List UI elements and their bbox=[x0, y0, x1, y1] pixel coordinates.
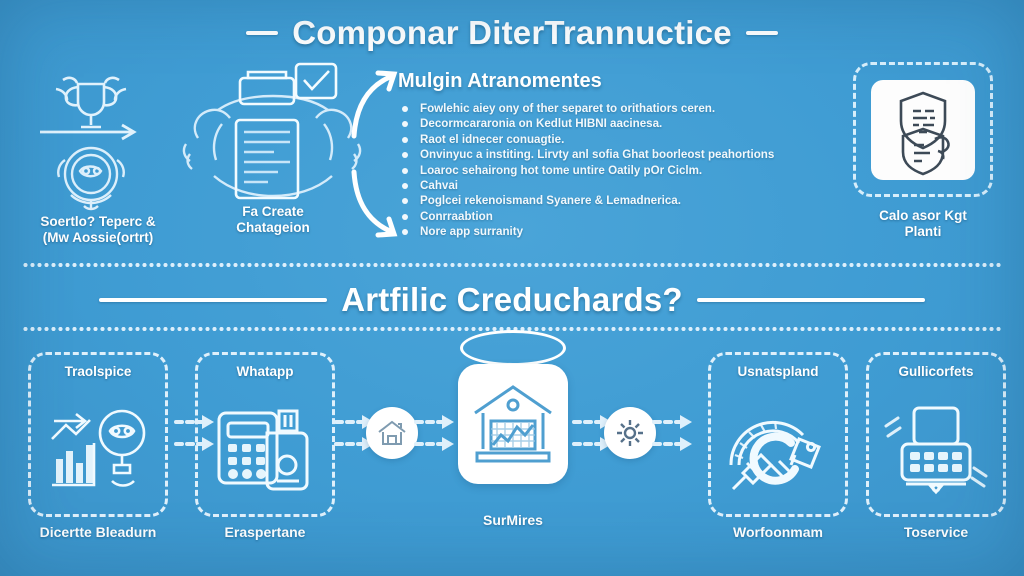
dashed-arrow-right bbox=[414, 410, 456, 456]
card-caption: Worfoonmam bbox=[698, 524, 858, 540]
card-inner-label: Gullicorfets bbox=[898, 364, 973, 379]
header-rule-right bbox=[746, 31, 778, 35]
card-art bbox=[198, 379, 332, 514]
card-inner-label: Usnatspland bbox=[737, 364, 818, 379]
process-card[interactable]: Usnatspland bbox=[708, 352, 848, 517]
house-icon bbox=[377, 419, 407, 447]
list-item: Loaroc sehairong hot tome untire Oatily … bbox=[398, 163, 836, 178]
gauge-and-tag-icon bbox=[725, 399, 831, 495]
curved-arrow-up-right bbox=[354, 73, 394, 136]
left-icon-caption: Soertlo? Teperc & (Mw Aossie(ortrt) bbox=[18, 214, 178, 246]
feature-list: Mulgin Atranomentes Fowlehic aiey ony of… bbox=[398, 70, 836, 240]
card-caption: Dicertte Bleadurn bbox=[18, 524, 178, 540]
list-item: Onvinyuc a institing. Lirvty anl sofia G… bbox=[398, 147, 836, 162]
card-caption: Toservice bbox=[856, 524, 1016, 540]
list-item: Poglcei rekenoismand Syanere & Lemadneri… bbox=[398, 193, 836, 208]
hands-holding-document bbox=[178, 58, 368, 208]
dashed-arrow-right bbox=[652, 410, 694, 456]
process-flow-row: Traolspice bbox=[0, 352, 1024, 562]
mid-header-rule-right bbox=[697, 298, 925, 302]
card-art bbox=[31, 379, 165, 514]
list-item: Decormcararonia on Kedlut HIBNI aacinesa… bbox=[398, 116, 836, 131]
list-item: Raot el idnecer conuagtie. bbox=[398, 132, 836, 147]
feature-list-heading: Mulgin Atranomentes bbox=[398, 70, 836, 93]
feature-list-items: Fowlehic aiey ony of ther separet to ori… bbox=[398, 101, 836, 240]
gear-icon bbox=[616, 419, 644, 447]
card-inner-label: Whatapp bbox=[237, 364, 294, 379]
mid-header: Artfilic Creduchards? bbox=[0, 281, 1024, 319]
card-inner-label: Traolspice bbox=[65, 364, 132, 379]
middle-icon-caption: Fa Create Chatageion bbox=[178, 204, 368, 236]
center-card-caption: SurMires bbox=[433, 512, 593, 528]
mid-header-rule-left bbox=[99, 298, 327, 302]
mid-header-title: Artfilic Creduchards? bbox=[341, 281, 683, 319]
process-card[interactable]: Traolspice bbox=[28, 352, 168, 517]
top-header-title: Componar DiterTrannuctice bbox=[292, 14, 732, 52]
bank-building-chart-icon bbox=[471, 383, 555, 465]
security-badge-box bbox=[853, 62, 993, 197]
house-circle-node[interactable] bbox=[366, 407, 418, 459]
card-caption: Eraspertane bbox=[185, 524, 345, 540]
list-item: Fowlehic aiey ony of ther separet to ori… bbox=[398, 101, 836, 116]
gear-circle-node[interactable] bbox=[604, 407, 656, 459]
security-badge-card bbox=[871, 80, 975, 180]
left-icon-group: Soertlo? Teperc & (Mw Aossie(ortrt) bbox=[18, 64, 178, 264]
header-rule-left bbox=[246, 31, 278, 35]
list-item: Conrraabtion bbox=[398, 209, 836, 224]
process-card[interactable]: Whatapp bbox=[195, 352, 335, 517]
list-item: Cahvai bbox=[398, 178, 836, 193]
shield-security-icons bbox=[880, 87, 966, 173]
divider-dotted-top bbox=[22, 263, 1002, 267]
middle-illustration-group: Fa Create Chatageion bbox=[178, 58, 368, 258]
center-highlight-card[interactable] bbox=[458, 364, 568, 484]
security-badge-caption: Calo asor Kgt Planti bbox=[845, 208, 1001, 240]
calculator-document-icon bbox=[213, 401, 317, 493]
chart-and-lightbulb-icon bbox=[46, 399, 150, 495]
curved-arrow-down-right bbox=[354, 172, 394, 235]
card-art bbox=[869, 379, 1003, 514]
ellipse-callout bbox=[460, 330, 566, 366]
trophy-and-seal-icons bbox=[18, 64, 178, 214]
card-art bbox=[711, 379, 845, 514]
laptop-terminal-icon bbox=[884, 400, 988, 494]
list-item: Nore app surranity bbox=[398, 224, 836, 239]
top-header: Componar DiterTrannuctice bbox=[0, 14, 1024, 52]
process-card[interactable]: Gullicorfets bbox=[866, 352, 1006, 517]
